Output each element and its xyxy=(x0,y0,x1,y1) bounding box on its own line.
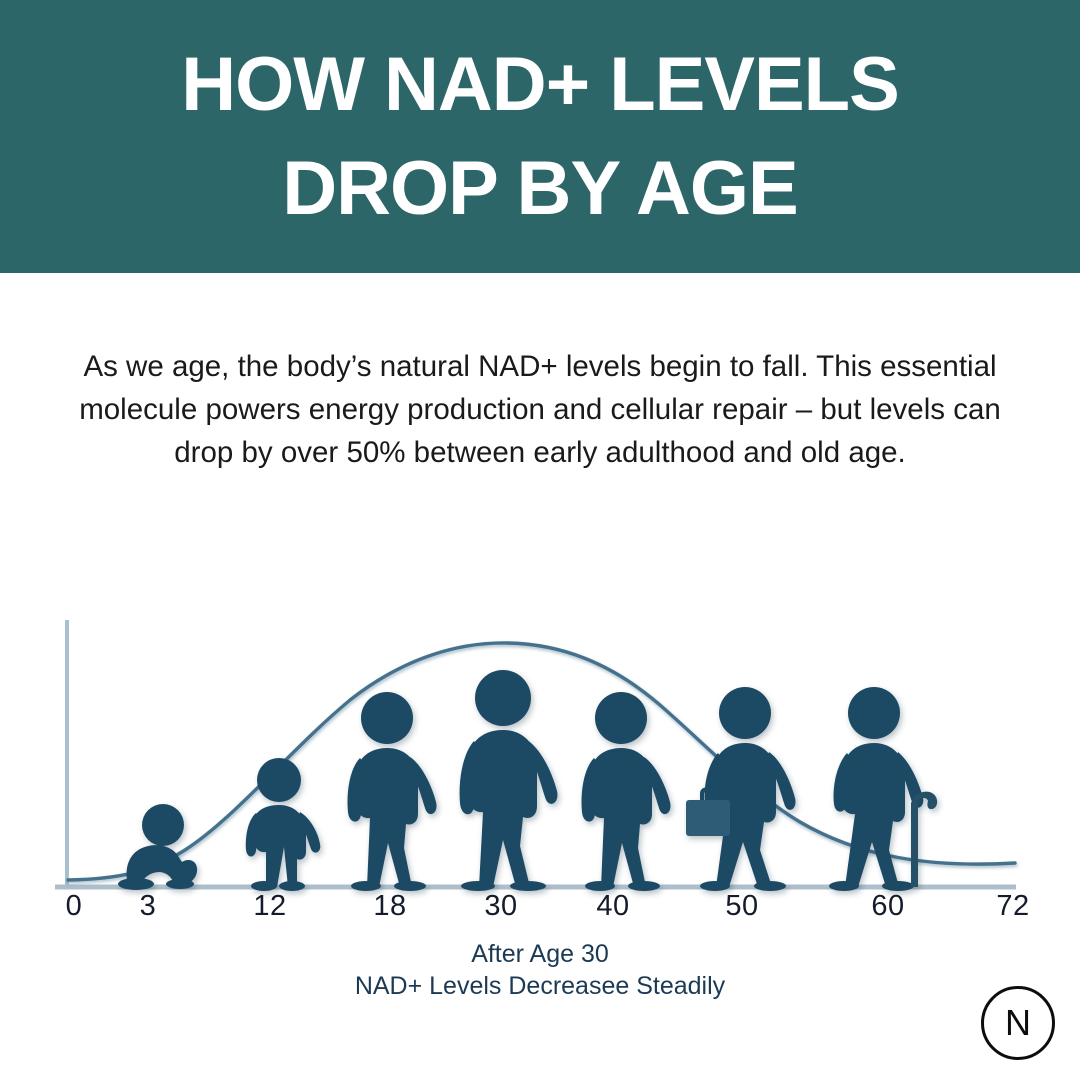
caption-line-1: After Age 30 xyxy=(0,938,1080,970)
figure-age-3 xyxy=(118,804,197,890)
caption-line-2: NAD+ Levels Decreasee Steadily xyxy=(0,970,1080,1002)
tick-label-0: 0 xyxy=(66,890,83,923)
tick-label-50: 50 xyxy=(725,890,758,923)
header-band: HOW NAD+ LEVELS DROP BY AGE xyxy=(0,0,1080,273)
tick-label-12: 12 xyxy=(253,890,286,923)
tick-label-72: 72 xyxy=(996,890,1029,923)
tick-label-40: 40 xyxy=(596,890,629,923)
x-axis-tick-labels: 0 3 12 18 30 40 50 60 72 xyxy=(0,890,1080,930)
chart-caption: After Age 30 NAD+ Levels Decreasee Stead… xyxy=(0,938,1080,1002)
tick-label-18: 18 xyxy=(373,890,406,923)
nad-level-chart xyxy=(0,600,1080,940)
page-title-line-1: HOW NAD+ LEVELS xyxy=(181,33,899,137)
intro-paragraph: As we age, the body’s natural NAD+ level… xyxy=(70,345,1010,474)
tick-label-3: 3 xyxy=(140,890,157,923)
brand-logo: N xyxy=(981,986,1055,1060)
logo-letter-n: N xyxy=(1005,1005,1031,1041)
figure-age-18 xyxy=(348,692,437,891)
tick-label-60: 60 xyxy=(871,890,904,923)
figure-age-30 xyxy=(460,670,558,891)
figure-age-12 xyxy=(246,758,321,891)
tick-label-30: 30 xyxy=(484,890,517,923)
page-title-line-2: DROP BY AGE xyxy=(282,137,798,241)
cane-icon xyxy=(911,792,937,887)
figure-age-40 xyxy=(582,692,671,891)
briefcase-icon xyxy=(686,800,730,836)
figure-age-50 xyxy=(686,687,796,891)
